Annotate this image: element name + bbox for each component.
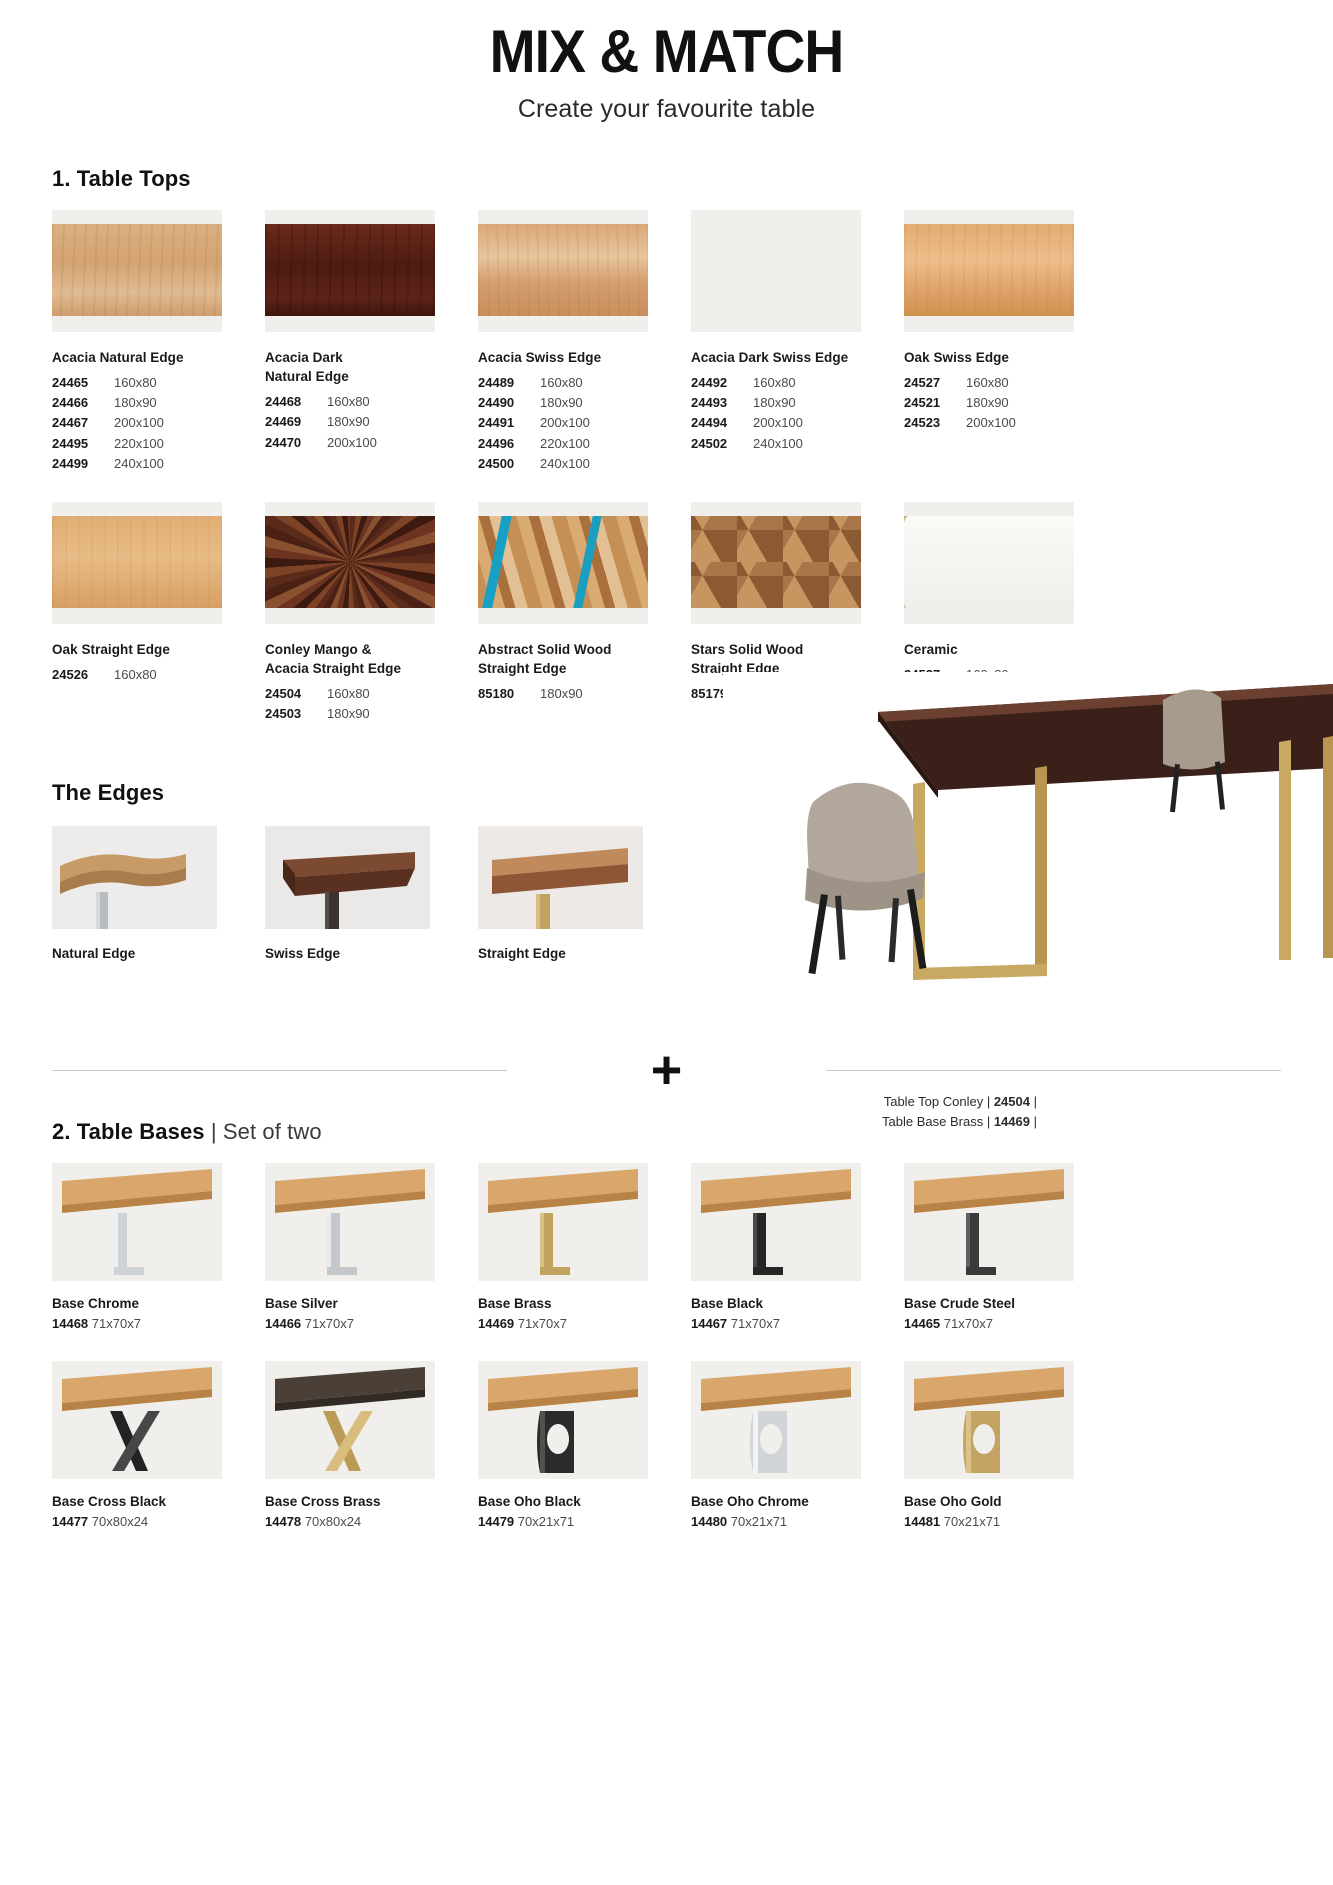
sku-dimensions: 160x80 bbox=[540, 373, 583, 393]
table-top-card[interactable]: Oak Straight Edge24526160x80 bbox=[52, 502, 260, 725]
table-top-name: Acacia Dark Swiss Edge bbox=[691, 348, 899, 367]
sku-row: 24521180x90 bbox=[904, 393, 1112, 413]
table-base-thumbnail bbox=[265, 1163, 435, 1281]
table-base-name: Base Cross Black bbox=[52, 1494, 260, 1509]
sku-code: 24466 bbox=[52, 393, 114, 413]
table-top-name: Abstract Solid WoodStraight Edge bbox=[478, 640, 686, 678]
table-base-dimensions: 70x21x71 bbox=[727, 1514, 787, 1529]
sku-dimensions: 240x100 bbox=[114, 454, 164, 474]
sku-list: 24527160x8024521180x9024523200x100 bbox=[904, 373, 1112, 433]
table-base-card[interactable]: Base Black14467 71x70x7 bbox=[691, 1163, 899, 1331]
sku-code: 24468 bbox=[265, 392, 327, 412]
sku-row: 24494200x100 bbox=[691, 413, 899, 433]
table-base-card[interactable]: Base Oho Gold14481 70x21x71 bbox=[904, 1361, 1112, 1529]
table-top-thumbnail bbox=[478, 210, 648, 332]
table-bases-row-1: Base Chrome14468 71x70x7 Base Silver1446… bbox=[52, 1163, 1281, 1331]
edge-label: Straight Edge bbox=[478, 946, 686, 961]
plus-icon: + bbox=[651, 1050, 683, 1091]
sku-code: 24470 bbox=[265, 433, 327, 453]
table-base-name: Base Cross Brass bbox=[265, 1494, 473, 1509]
table-base-name: Base Black bbox=[691, 1296, 899, 1311]
table-base-name: Base Oho Black bbox=[478, 1494, 686, 1509]
sku-row: 24470200x100 bbox=[265, 433, 473, 453]
table-base-dimensions: 71x70x7 bbox=[301, 1316, 354, 1331]
table-base-sku: 14469 bbox=[478, 1316, 514, 1331]
sku-dimensions: 180x90 bbox=[327, 412, 370, 432]
sku-row: 24489160x80 bbox=[478, 373, 686, 393]
page-title: MIX & MATCH bbox=[101, 20, 1232, 83]
table-top-thumbnail bbox=[265, 502, 435, 624]
table-top-card[interactable]: Acacia Swiss Edge24489160x8024490180x902… bbox=[478, 210, 686, 474]
sku-code: 24500 bbox=[478, 454, 540, 474]
sku-dimensions: 180x90 bbox=[966, 393, 1009, 413]
bases-heading-light: | Set of two bbox=[211, 1119, 322, 1144]
table-base-meta: 14480 70x21x71 bbox=[691, 1514, 899, 1529]
sku-row: 24499240x100 bbox=[52, 454, 260, 474]
sku-code: 24496 bbox=[478, 434, 540, 454]
wood-texture-swatch bbox=[478, 224, 648, 316]
caption-base-label: Table Base Brass | bbox=[882, 1114, 990, 1129]
table-base-dimensions: 71x70x7 bbox=[727, 1316, 780, 1331]
table-base-dimensions: 71x70x7 bbox=[88, 1316, 141, 1331]
sku-code: 24493 bbox=[691, 393, 753, 413]
table-base-sku: 14479 bbox=[478, 1514, 514, 1529]
table-top-thumbnail bbox=[904, 502, 1074, 624]
sku-row: 24502240x100 bbox=[691, 434, 899, 454]
table-top-thumbnail bbox=[904, 210, 1074, 332]
table-top-thumbnail bbox=[52, 502, 222, 624]
edge-card[interactable]: Swiss Edge bbox=[265, 826, 473, 961]
sku-list: 24465160x8024466180x9024467200x100244952… bbox=[52, 373, 260, 474]
table-base-dimensions: 70x21x71 bbox=[514, 1514, 574, 1529]
sku-dimensions: 200x100 bbox=[540, 413, 590, 433]
table-base-thumbnail bbox=[265, 1361, 435, 1479]
table-base-thumbnail bbox=[691, 1163, 861, 1281]
sku-code: 24521 bbox=[904, 393, 966, 413]
table-top-thumbnail bbox=[691, 210, 861, 332]
table-top-card[interactable]: Acacia DarkNatural Edge24468160x80244691… bbox=[265, 210, 473, 474]
sku-dimensions: 160x80 bbox=[966, 373, 1009, 393]
table-top-thumbnail bbox=[691, 502, 861, 624]
sku-row: 24504160x80 bbox=[265, 684, 473, 704]
room-photo bbox=[723, 672, 1333, 994]
table-base-meta: 14481 70x21x71 bbox=[904, 1514, 1112, 1529]
table-base-card[interactable]: Base Chrome14468 71x70x7 bbox=[52, 1163, 260, 1331]
table-base-sku: 14480 bbox=[691, 1514, 727, 1529]
table-base-meta: 14467 71x70x7 bbox=[691, 1316, 899, 1331]
sku-code: 24504 bbox=[265, 684, 327, 704]
sku-row: 85180180x90 bbox=[478, 684, 686, 704]
table-base-thumbnail bbox=[691, 1361, 861, 1479]
table-base-sku: 14465 bbox=[904, 1316, 940, 1331]
table-top-card[interactable]: Acacia Natural Edge24465160x8024466180x9… bbox=[52, 210, 260, 474]
table-top-name: Acacia DarkNatural Edge bbox=[265, 348, 473, 386]
page-header: MIX & MATCH Create your favourite table bbox=[52, 0, 1281, 124]
table-base-meta: 14477 70x80x24 bbox=[52, 1514, 260, 1529]
sku-dimensions: 220x100 bbox=[114, 434, 164, 454]
table-base-dimensions: 70x80x24 bbox=[301, 1514, 361, 1529]
edge-label: Swiss Edge bbox=[265, 946, 473, 961]
table-top-thumbnail bbox=[265, 210, 435, 332]
caption-base-sku: 14469 bbox=[994, 1114, 1030, 1129]
table-bases-row-2: Base Cross Black14477 70x80x24 Base Cros… bbox=[52, 1361, 1281, 1529]
sku-row: 24500240x100 bbox=[478, 454, 686, 474]
section-heading-table-bases: 2. Table Bases | Set of two bbox=[52, 1119, 1281, 1145]
edge-thumbnail bbox=[478, 826, 643, 929]
sku-code: 24526 bbox=[52, 665, 114, 685]
sku-list: 85180180x90 bbox=[478, 684, 686, 704]
sku-row: 24465160x80 bbox=[52, 373, 260, 393]
table-base-dimensions: 71x70x7 bbox=[940, 1316, 993, 1331]
table-base-card[interactable]: Base Crude Steel14465 71x70x7 bbox=[904, 1163, 1112, 1331]
room-photo-caption: Table Top Conley | 24504 | Table Base Br… bbox=[882, 1092, 1037, 1132]
caption-base-end: | bbox=[1034, 1114, 1037, 1129]
table-base-meta: 14469 71x70x7 bbox=[478, 1316, 686, 1331]
table-base-name: Base Silver bbox=[265, 1296, 473, 1311]
sku-row: 24491200x100 bbox=[478, 413, 686, 433]
sku-code: 24527 bbox=[904, 373, 966, 393]
sku-dimensions: 240x100 bbox=[540, 454, 590, 474]
table-top-card[interactable]: Conley Mango &Acacia Straight Edge245041… bbox=[265, 502, 473, 725]
wood-texture-swatch bbox=[691, 224, 861, 316]
sku-code: 24465 bbox=[52, 373, 114, 393]
table-top-card[interactable]: Oak Swiss Edge24527160x8024521180x902452… bbox=[904, 210, 1112, 474]
sku-dimensions: 160x80 bbox=[327, 684, 370, 704]
edge-thumbnail bbox=[265, 826, 430, 929]
sku-row: 24469180x90 bbox=[265, 412, 473, 432]
sku-dimensions: 180x90 bbox=[540, 684, 583, 704]
caption-top-end: | bbox=[1034, 1094, 1037, 1109]
table-base-dimensions: 70x80x24 bbox=[88, 1514, 148, 1529]
sku-dimensions: 240x100 bbox=[753, 434, 803, 454]
table-base-card[interactable]: Base Oho Black14479 70x21x71 bbox=[478, 1361, 686, 1529]
table-top-card[interactable]: Acacia Dark Swiss Edge24492160x802449318… bbox=[691, 210, 899, 474]
table-base-card[interactable]: Base Cross Black14477 70x80x24 bbox=[52, 1361, 260, 1529]
sku-dimensions: 180x90 bbox=[540, 393, 583, 413]
table-base-name: Base Oho Chrome bbox=[691, 1494, 899, 1509]
table-top-thumbnail bbox=[478, 502, 648, 624]
table-base-meta: 14478 70x80x24 bbox=[265, 1514, 473, 1529]
sku-list: 24468160x8024469180x9024470200x100 bbox=[265, 392, 473, 452]
wood-texture-swatch bbox=[904, 516, 1074, 608]
sku-list: 24492160x8024493180x9024494200x100245022… bbox=[691, 373, 899, 454]
table-base-card[interactable]: Base Cross Brass14478 70x80x24 bbox=[265, 1361, 473, 1529]
sku-code: 24503 bbox=[265, 704, 327, 724]
table-base-name: Base Chrome bbox=[52, 1296, 260, 1311]
table-base-card[interactable]: Base Silver14466 71x70x7 bbox=[265, 1163, 473, 1331]
sku-dimensions: 200x100 bbox=[327, 433, 377, 453]
sku-code: 24502 bbox=[691, 434, 753, 454]
sku-list: 24489160x8024490180x9024491200x100244962… bbox=[478, 373, 686, 474]
sku-dimensions: 160x80 bbox=[114, 373, 157, 393]
caption-top-label: Table Top Conley | bbox=[884, 1094, 990, 1109]
table-base-meta: 14466 71x70x7 bbox=[265, 1316, 473, 1331]
wood-texture-swatch bbox=[265, 224, 435, 316]
sku-row: 24496220x100 bbox=[478, 434, 686, 454]
sku-row: 24527160x80 bbox=[904, 373, 1112, 393]
sku-list: 24504160x8024503180x90 bbox=[265, 684, 473, 724]
table-base-dimensions: 70x21x71 bbox=[940, 1514, 1000, 1529]
sku-code: 24467 bbox=[52, 413, 114, 433]
divider-line-right bbox=[826, 1070, 1281, 1071]
table-base-name: Base Brass bbox=[478, 1296, 686, 1311]
plus-divider: + bbox=[52, 1047, 1281, 1093]
table-top-name: Oak Straight Edge bbox=[52, 640, 260, 659]
sku-code: 24469 bbox=[265, 412, 327, 432]
table-base-sku: 14468 bbox=[52, 1316, 88, 1331]
sku-dimensions: 180x90 bbox=[114, 393, 157, 413]
sku-code: 85180 bbox=[478, 684, 540, 704]
catalog-page: MIX & MATCH Create your favourite table … bbox=[0, 0, 1333, 1885]
sku-dimensions: 160x80 bbox=[114, 665, 157, 685]
edge-thumbnail bbox=[52, 826, 217, 929]
table-base-sku: 14466 bbox=[265, 1316, 301, 1331]
sku-dimensions: 200x100 bbox=[966, 413, 1016, 433]
sku-row: 24523200x100 bbox=[904, 413, 1112, 433]
table-base-sku: 14478 bbox=[265, 1514, 301, 1529]
table-tops-row-1: Acacia Natural Edge24465160x8024466180x9… bbox=[52, 210, 1281, 474]
sku-row: 24466180x90 bbox=[52, 393, 260, 413]
sku-dimensions: 200x100 bbox=[753, 413, 803, 433]
edge-card[interactable]: Natural Edge bbox=[52, 826, 260, 961]
sku-code: 24495 bbox=[52, 434, 114, 454]
sku-row: 24468160x80 bbox=[265, 392, 473, 412]
table-top-name: Oak Swiss Edge bbox=[904, 348, 1112, 367]
section-heading-table-tops: 1. Table Tops bbox=[52, 166, 1281, 192]
table-top-card[interactable]: Abstract Solid WoodStraight Edge85180180… bbox=[478, 502, 686, 725]
sku-code: 24494 bbox=[691, 413, 753, 433]
table-base-name: Base Oho Gold bbox=[904, 1494, 1112, 1509]
divider-line-left bbox=[52, 1070, 507, 1071]
edge-label: Natural Edge bbox=[52, 946, 260, 961]
wood-texture-swatch bbox=[52, 516, 222, 608]
page-subtitle: Create your favourite table bbox=[52, 95, 1281, 124]
sku-dimensions: 160x80 bbox=[327, 392, 370, 412]
table-base-thumbnail bbox=[52, 1163, 222, 1281]
sku-row: 24492160x80 bbox=[691, 373, 899, 393]
sku-code: 24523 bbox=[904, 413, 966, 433]
table-base-sku: 14477 bbox=[52, 1514, 88, 1529]
table-base-dimensions: 71x70x7 bbox=[514, 1316, 567, 1331]
sku-dimensions: 180x90 bbox=[327, 704, 370, 724]
table-base-thumbnail bbox=[478, 1163, 648, 1281]
sku-code: 24499 bbox=[52, 454, 114, 474]
sku-row: 24490180x90 bbox=[478, 393, 686, 413]
sku-row: 24503180x90 bbox=[265, 704, 473, 724]
edge-card[interactable]: Straight Edge bbox=[478, 826, 686, 961]
sku-code: 24492 bbox=[691, 373, 753, 393]
table-top-name: Conley Mango &Acacia Straight Edge bbox=[265, 640, 473, 678]
sku-dimensions: 160x80 bbox=[753, 373, 796, 393]
caption-top-sku: 24504 bbox=[994, 1094, 1030, 1109]
bases-heading-bold: 2. Table Bases bbox=[52, 1119, 205, 1144]
sku-row: 24467200x100 bbox=[52, 413, 260, 433]
table-base-card[interactable]: Base Brass14469 71x70x7 bbox=[478, 1163, 686, 1331]
sku-list: 24526160x80 bbox=[52, 665, 260, 685]
sku-dimensions: 220x100 bbox=[540, 434, 590, 454]
table-top-name: Acacia Natural Edge bbox=[52, 348, 260, 367]
table-base-thumbnail bbox=[52, 1361, 222, 1479]
table-base-thumbnail bbox=[904, 1361, 1074, 1479]
table-base-name: Base Crude Steel bbox=[904, 1296, 1112, 1311]
sku-row: 24495220x100 bbox=[52, 434, 260, 454]
sku-row: 24526160x80 bbox=[52, 665, 260, 685]
table-top-name: Ceramic bbox=[904, 640, 1112, 659]
table-base-sku: 14481 bbox=[904, 1514, 940, 1529]
wood-texture-swatch bbox=[265, 516, 435, 608]
table-base-meta: 14479 70x21x71 bbox=[478, 1514, 686, 1529]
table-base-thumbnail bbox=[904, 1163, 1074, 1281]
sku-dimensions: 200x100 bbox=[114, 413, 164, 433]
table-base-meta: 14465 71x70x7 bbox=[904, 1316, 1112, 1331]
table-base-thumbnail bbox=[478, 1361, 648, 1479]
wood-texture-swatch bbox=[691, 516, 861, 608]
sku-code: 24490 bbox=[478, 393, 540, 413]
wood-texture-swatch bbox=[904, 224, 1074, 316]
sku-dimensions: 180x90 bbox=[753, 393, 796, 413]
sku-code: 24489 bbox=[478, 373, 540, 393]
table-base-meta: 14468 71x70x7 bbox=[52, 1316, 260, 1331]
table-base-card[interactable]: Base Oho Chrome14480 70x21x71 bbox=[691, 1361, 899, 1529]
table-top-name: Acacia Swiss Edge bbox=[478, 348, 686, 367]
table-top-thumbnail bbox=[52, 210, 222, 332]
wood-texture-swatch bbox=[478, 516, 648, 608]
sku-code: 24491 bbox=[478, 413, 540, 433]
sku-row: 24493180x90 bbox=[691, 393, 899, 413]
wood-texture-swatch bbox=[52, 224, 222, 316]
table-base-sku: 14467 bbox=[691, 1316, 727, 1331]
